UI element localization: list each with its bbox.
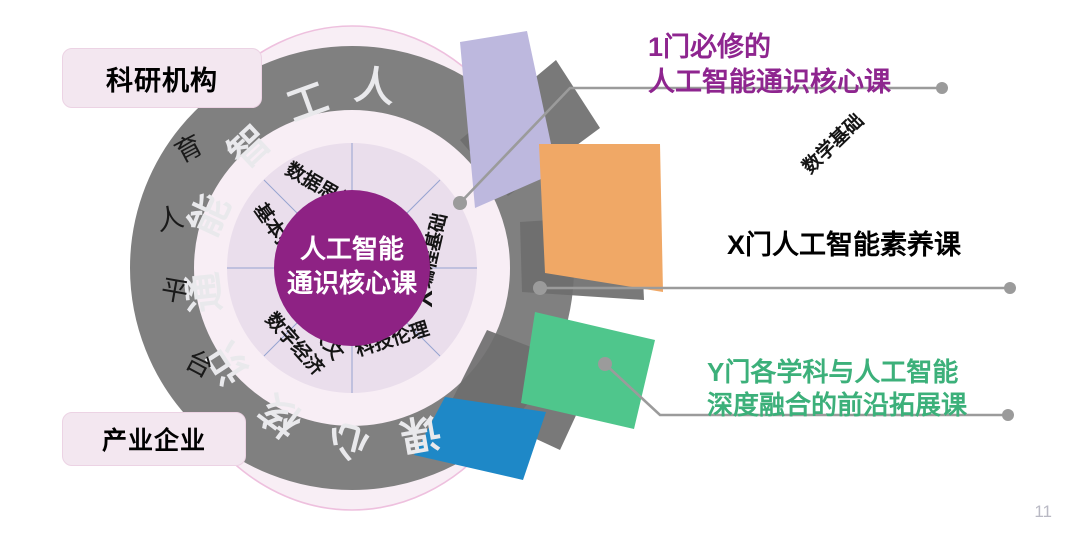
center-title-line2: 通识核心课 [287, 268, 418, 298]
connector-dot-inner-x [533, 281, 547, 295]
connector-endpoint-literacy [1004, 282, 1016, 294]
gray-ring-char-0: 人 [352, 63, 396, 111]
center-title-line1: 人工智能 [300, 234, 404, 264]
tag-industry-enterprises[interactable]: 产业企业 [62, 412, 246, 466]
gray-ring-char-4: 通 [181, 270, 229, 314]
petal-orange [539, 144, 663, 292]
callout-required-line1: 1门必修的 [648, 30, 891, 65]
callout-frontier-line1: Y门各学科与人工智能 [707, 356, 967, 389]
connector-endpoint-required [936, 82, 948, 94]
callout-required-line2: 人工智能通识核心课 [648, 65, 891, 100]
callout-frontier-line2: 深度融合的前沿拓展课 [707, 389, 967, 422]
connector-endpoint-frontier [1002, 409, 1014, 421]
callout-literacy-line1: X门人工智能素养课 [727, 228, 961, 263]
connector-dot-green [598, 357, 612, 371]
callout-frontier-courses: Y门各学科与人工智能 深度融合的前沿拓展课 [707, 356, 967, 423]
tag-research-institutions[interactable]: 科研机构 [62, 48, 262, 108]
callout-literacy-courses: X门人工智能素养课 [727, 228, 961, 263]
inner-seg-label-0: 数学基础 [798, 109, 869, 178]
callout-required-course: 1门必修的 人工智能通识核心课 [648, 30, 891, 99]
connector-dot-center [453, 196, 467, 210]
platform-char-2: 平 [159, 274, 191, 308]
page-number: 11 [1034, 502, 1052, 522]
slide-canvas: 数学基础 编程基础 X 科技伦理 数字经济 数字人文 基本技能 数据思维 人工智… [0, 0, 1080, 536]
